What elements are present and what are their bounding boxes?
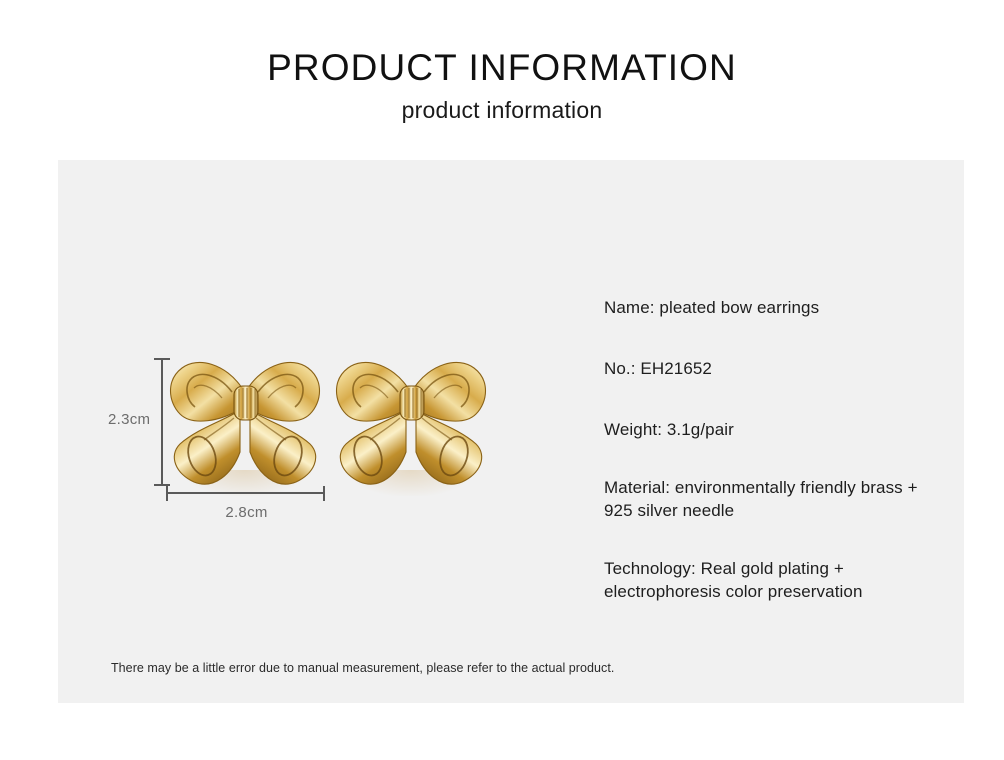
- bow-earring-icon: [164, 348, 326, 500]
- spec-number: No.: EH21652: [604, 357, 944, 380]
- height-dimension-line: [161, 358, 163, 486]
- measurement-disclaimer: There may be a little error due to manua…: [111, 660, 701, 677]
- width-dimension-cap-left: [166, 486, 168, 501]
- page-subtitle: product information: [0, 95, 1004, 125]
- page-header: PRODUCT INFORMATION product information: [0, 46, 1004, 125]
- product-spec-list: Name: pleated bow earrings No.: EH21652 …: [604, 296, 944, 603]
- width-dimension-line: [166, 492, 325, 494]
- height-dimension-label: 2.3cm: [108, 411, 150, 428]
- width-dimension-cap-right: [323, 486, 325, 501]
- spec-weight: Weight: 3.1g/pair: [604, 418, 944, 441]
- spec-material: Material: environmentally friendly brass…: [604, 476, 944, 522]
- page-title: PRODUCT INFORMATION: [0, 46, 1004, 90]
- spec-technology: Technology: Real gold plating + electrop…: [604, 557, 944, 603]
- bow-earring-icon: [330, 348, 492, 500]
- height-dimension-cap-top: [154, 358, 170, 360]
- width-dimension-label: 2.8cm: [167, 504, 326, 521]
- spec-name: Name: pleated bow earrings: [604, 296, 944, 319]
